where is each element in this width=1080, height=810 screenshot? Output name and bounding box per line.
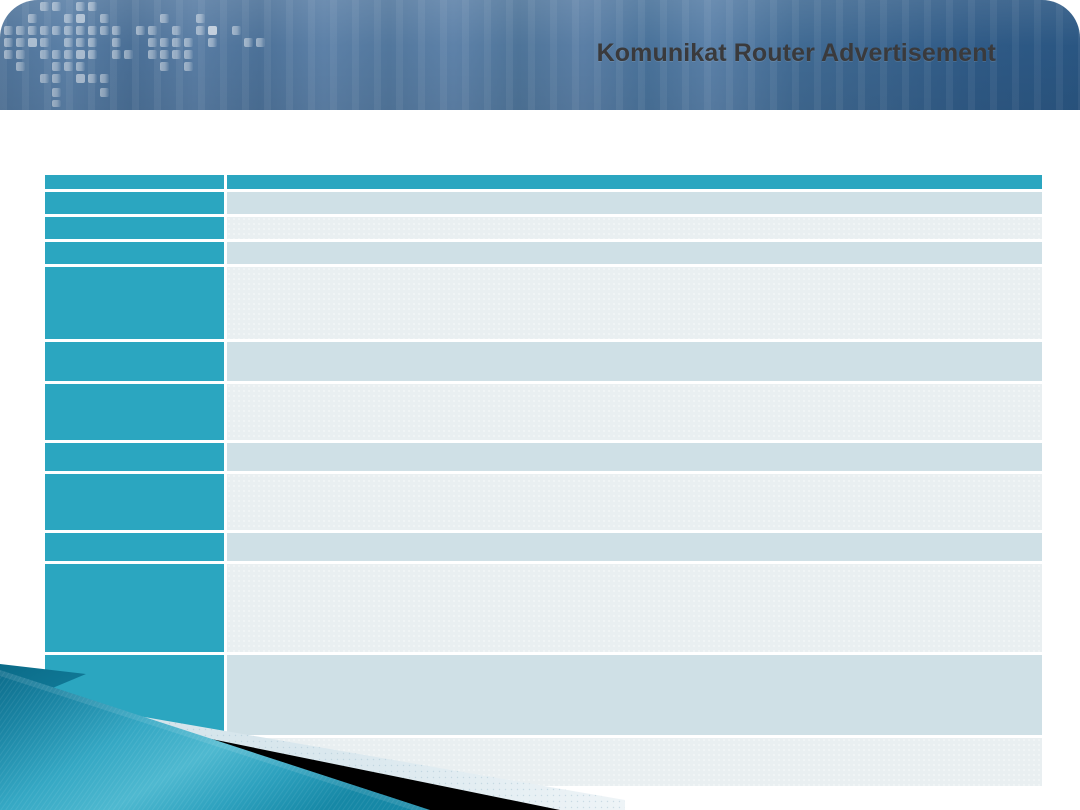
row-label-text [45, 738, 224, 750]
table-row[interactable] [45, 443, 1042, 474]
row-label-text [45, 242, 224, 254]
row-value-cell [227, 564, 1042, 655]
row-value-text [227, 533, 1042, 545]
row-label-text [45, 564, 224, 576]
dot-grid-world-map-icon [0, 0, 330, 110]
row-value-text [227, 192, 1042, 204]
row-label-cell [45, 217, 227, 242]
page-title: Komunikat Router Advertisement [597, 39, 996, 68]
row-label-cell [45, 655, 227, 738]
table-header-row [45, 175, 1042, 192]
row-value-text [227, 564, 1042, 576]
row-label-text [45, 217, 224, 229]
row-label-cell [45, 342, 227, 384]
row-value-cell [227, 384, 1042, 443]
row-value-text [227, 267, 1042, 279]
row-value-cell [227, 655, 1042, 738]
table-header-label-cell [45, 175, 227, 192]
row-value-text [227, 384, 1042, 396]
row-label-cell [45, 738, 227, 786]
row-value-cell [227, 242, 1042, 267]
header-banner: Komunikat Router Advertisement [0, 0, 1080, 110]
table-header-label-text [45, 175, 224, 187]
table-row[interactable] [45, 217, 1042, 242]
table-row[interactable] [45, 192, 1042, 217]
row-value-text [227, 738, 1042, 750]
row-label-cell [45, 384, 227, 443]
row-value-text [227, 242, 1042, 254]
table-row[interactable] [45, 267, 1042, 342]
table-header-value-text [227, 175, 1042, 187]
table-row[interactable] [45, 384, 1042, 443]
row-value-cell [227, 738, 1042, 786]
table-row[interactable] [45, 474, 1042, 533]
table-row[interactable] [45, 564, 1042, 655]
row-label-cell [45, 242, 227, 267]
row-label-text [45, 192, 224, 204]
row-label-text [45, 384, 224, 396]
row-value-cell [227, 267, 1042, 342]
row-label-text [45, 533, 224, 545]
row-label-cell [45, 443, 227, 474]
row-value-cell [227, 443, 1042, 474]
table-header-value-cell [227, 175, 1042, 192]
row-value-cell [227, 474, 1042, 533]
row-label-cell [45, 267, 227, 342]
row-label-text [45, 443, 224, 455]
row-label-text [45, 655, 224, 667]
row-value-text [227, 443, 1042, 455]
row-label-cell [45, 564, 227, 655]
content-table [45, 175, 1042, 786]
row-value-cell [227, 217, 1042, 242]
row-label-text [45, 474, 224, 486]
row-label-cell [45, 192, 227, 217]
row-value-text [227, 474, 1042, 486]
row-value-text [227, 217, 1042, 229]
row-value-cell [227, 192, 1042, 217]
row-label-cell [45, 474, 227, 533]
row-value-cell [227, 533, 1042, 564]
row-value-cell [227, 342, 1042, 384]
table-row[interactable] [45, 242, 1042, 267]
table-row[interactable] [45, 655, 1042, 738]
table-row[interactable] [45, 738, 1042, 786]
row-value-text [227, 655, 1042, 667]
row-value-text [227, 342, 1042, 354]
row-label-text [45, 267, 224, 279]
table-row[interactable] [45, 533, 1042, 564]
row-label-text [45, 342, 224, 354]
row-label-cell [45, 533, 227, 564]
content-table-body [45, 175, 1042, 786]
table-row[interactable] [45, 342, 1042, 384]
